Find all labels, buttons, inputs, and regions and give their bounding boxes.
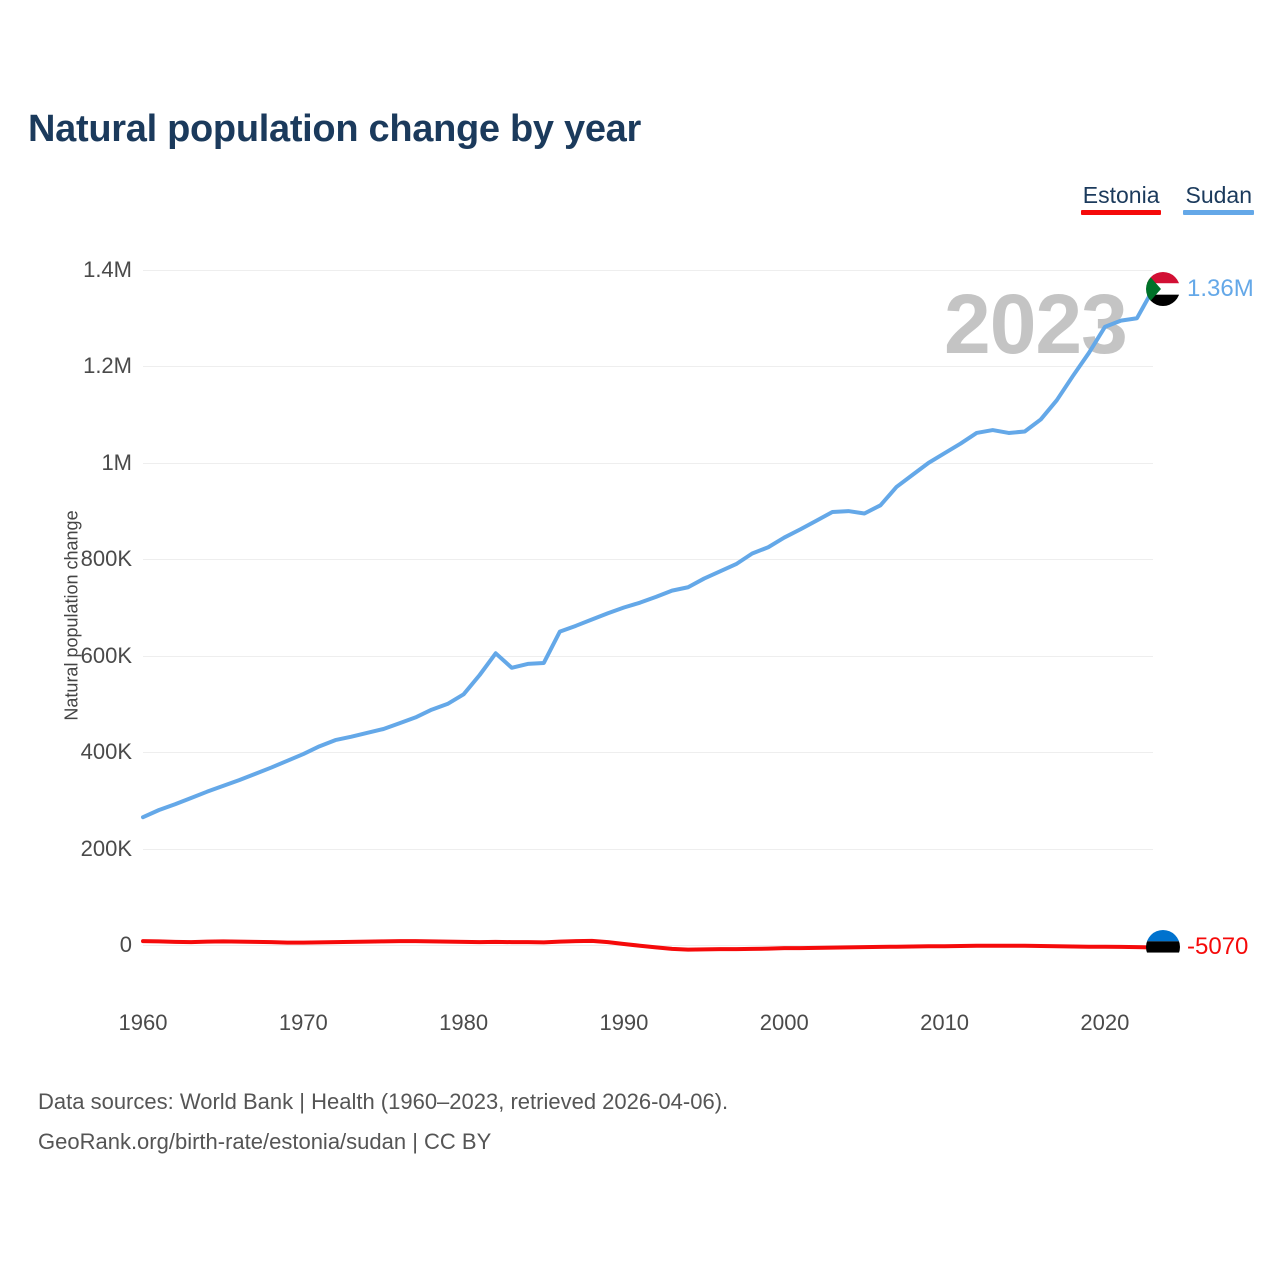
line-series-sudan (143, 289, 1153, 817)
footer-line-attribution[interactable]: GeoRank.org/birth-rate/estonia/sudan | C… (38, 1122, 728, 1162)
end-marker-estonia: -5070 (1146, 930, 1248, 964)
end-marker-sudan: 1.36M (1146, 272, 1254, 306)
line-series-estonia (143, 941, 1153, 950)
end-value-sudan: 1.36M (1187, 275, 1254, 303)
footer-line-sources: Data sources: World Bank | Health (1960–… (38, 1082, 728, 1122)
footer: Data sources: World Bank | Health (1960–… (38, 1082, 728, 1162)
end-value-estonia: -5070 (1187, 933, 1248, 961)
estonia-flag-icon (1146, 930, 1180, 964)
chart-page: Natural population change by year Estoni… (0, 0, 1280, 1280)
sudan-flag-icon (1146, 272, 1180, 306)
